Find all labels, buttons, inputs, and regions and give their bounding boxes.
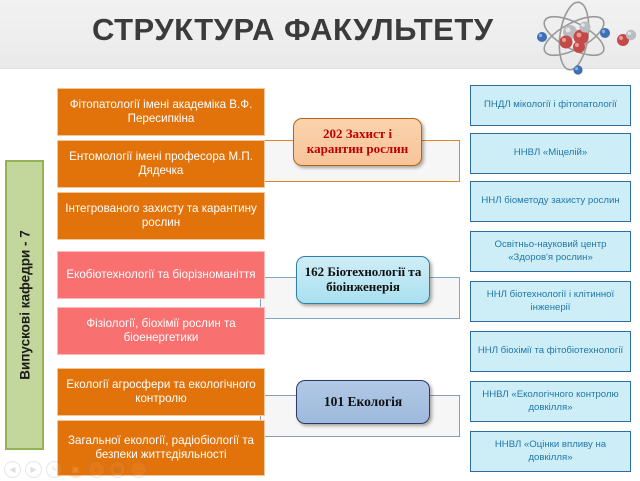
- department-label: Екобіотехнології та біорізноманіття: [66, 268, 255, 282]
- lab-label: ННВЛ «Оцінки впливу на довкілля»: [475, 439, 626, 464]
- graduating-departments-label: Випускові кафедри - 7: [5, 160, 44, 450]
- department-box-2[interactable]: Ентомології імені професора М.П. Дядечка: [57, 140, 265, 188]
- slide-header: СТРУКТУРА ФАКУЛЬТЕТУ: [0, 0, 640, 69]
- display-options-icon[interactable]: ▤: [109, 461, 126, 478]
- more-options-icon[interactable]: …: [130, 461, 147, 478]
- lab-label: Освітньо-науковий центр «Здоров'я рослин…: [475, 239, 626, 264]
- department-label: Загальної екології, радіобіології та без…: [64, 434, 258, 463]
- lab-box-1[interactable]: ПНДЛ мікології і фітопатології: [470, 85, 631, 126]
- lab-label: ННЛ біохімії та фітобіотехнології: [478, 345, 623, 357]
- lab-box-7[interactable]: ННВЛ «Екологічного контролю довкілля»: [470, 381, 631, 422]
- lab-box-2[interactable]: ННВЛ «Міцелій»: [470, 133, 631, 174]
- lab-box-3[interactable]: ННЛ біометоду захисту рослин: [470, 181, 631, 222]
- program-box-202[interactable]: 202 Захист і карантин рослин: [293, 118, 422, 166]
- slide-canvas: СТРУКТУРА ФАКУЛЬТЕТУ: [0, 0, 640, 481]
- lab-box-5[interactable]: ННЛ біотехнології і клітинної інженерії: [470, 281, 631, 322]
- department-box-5[interactable]: Фізіології, біохімії рослин та біоенерге…: [57, 307, 265, 355]
- department-label: Екології агросфери та екологічного контр…: [64, 378, 258, 407]
- lab-label: ННЛ біометоду захисту рослин: [481, 195, 619, 207]
- lab-label: ННВЛ «Екологічного контролю довкілля»: [475, 389, 626, 414]
- lab-label: ННВЛ «Міцелій»: [514, 147, 587, 159]
- slide-menu-icon[interactable]: ▣: [67, 461, 84, 478]
- program-label: 162 Біотехнології та біоінженерія: [297, 265, 429, 295]
- page-title: СТРУКТУРА ФАКУЛЬТЕТУ: [92, 12, 494, 48]
- department-box-4[interactable]: Екобіотехнології та біорізноманіття: [57, 251, 265, 299]
- previous-slide-icon[interactable]: ◀: [4, 461, 21, 478]
- lab-label: ПНДЛ мікології і фітопатології: [484, 99, 617, 111]
- lab-box-8[interactable]: ННВЛ «Оцінки впливу на довкілля»: [470, 431, 631, 472]
- lab-label: ННЛ біотехнології і клітинної інженерії: [475, 289, 626, 314]
- department-label: Ентомології імені професора М.П. Дядечка: [64, 150, 258, 179]
- department-label: Фітопатології імені академіка В.Ф. Перес…: [64, 98, 258, 127]
- department-box-6[interactable]: Екології агросфери та екологічного контр…: [57, 368, 265, 416]
- lab-box-4[interactable]: Освітньо-науковий центр «Здоров'я рослин…: [470, 231, 631, 272]
- lab-box-6[interactable]: ННЛ біохімії та фітобіотехнології: [470, 331, 631, 372]
- presentation-controls[interactable]: ◀ ▶ ✎ ▣ ⌕ ▤ …: [4, 461, 147, 478]
- atom-molecule-icon: [518, 0, 636, 76]
- zoom-tool-icon[interactable]: ⌕: [88, 461, 105, 478]
- department-box-3[interactable]: Інтегрованого захисту та карантину росли…: [57, 192, 265, 240]
- program-box-101[interactable]: 101 Екологія: [296, 380, 430, 424]
- graduating-departments-text: Випускові кафедри - 7: [17, 230, 32, 380]
- pen-tool-icon[interactable]: ✎: [46, 461, 63, 478]
- next-slide-icon[interactable]: ▶: [25, 461, 42, 478]
- program-label: 101 Екологія: [324, 394, 402, 410]
- department-label: Інтегрованого захисту та карантину росли…: [64, 202, 258, 231]
- department-label: Фізіології, біохімії рослин та біоенерге…: [64, 317, 258, 346]
- department-box-1[interactable]: Фітопатології імені академіка В.Ф. Перес…: [57, 88, 265, 136]
- program-box-162[interactable]: 162 Біотехнології та біоінженерія: [296, 256, 430, 304]
- program-label: 202 Захист і карантин рослин: [294, 127, 421, 157]
